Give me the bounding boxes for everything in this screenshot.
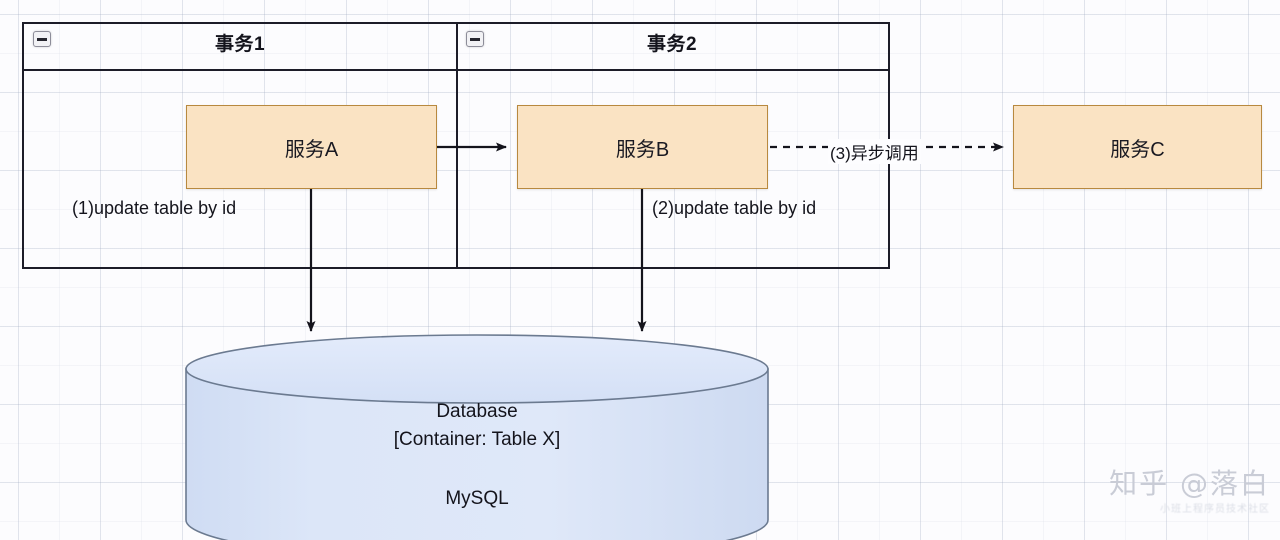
service-box-a[interactable]: 服务A xyxy=(186,105,437,189)
edge-label-update-1: (1)update table by id xyxy=(72,198,236,219)
service-box-b[interactable]: 服务B xyxy=(517,105,768,189)
service-box-c[interactable]: 服务C xyxy=(1013,105,1262,189)
database-label-name: Database xyxy=(186,398,768,426)
watermark-subtext: 小班上程序员技术社区 xyxy=(1020,500,1270,515)
watermark: 知乎 @落白 xyxy=(1020,462,1270,502)
diagram-canvas: 事务1 事务2 xyxy=(0,0,1280,540)
database-label-engine: MySQL xyxy=(186,485,768,513)
database-label-container: [Container: Table X] xyxy=(186,426,768,454)
edge-label-update-2: (2)update table by id xyxy=(652,198,816,219)
edge-label-async-call: (3)异步调用 xyxy=(828,139,921,164)
connector-layer xyxy=(0,0,1280,540)
